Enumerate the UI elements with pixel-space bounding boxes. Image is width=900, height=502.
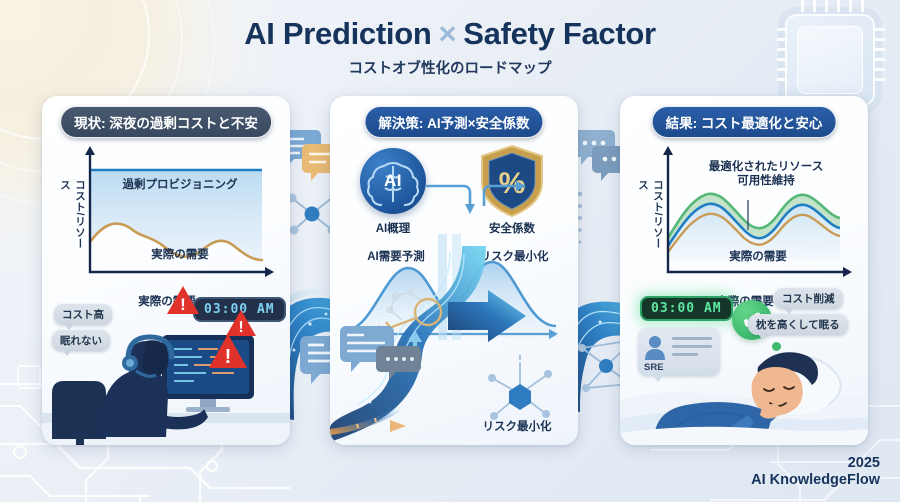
clock-night-ok: 03:00 AM (640, 296, 733, 321)
footer-year: 2025 (751, 455, 880, 471)
panel-solution: 解決策: AI予測×安全係数 AI AI概理 % 安全係数 (330, 96, 578, 445)
infographic-canvas: ✦ ✦ ✦ (0, 0, 900, 502)
chart-3-optimized-line2: 可用性維持 (737, 175, 795, 187)
page-subtitle: コストオブ性化のロードマップ (0, 57, 900, 78)
footer-brand: AI KnowledgeFlow (751, 472, 880, 488)
sleeping-engineer-illustration (620, 323, 868, 445)
title-part-1: AI Prediction (244, 16, 431, 51)
svg-text:!: ! (225, 346, 232, 368)
footer: 2025 AI KnowledgeFlow (751, 455, 880, 488)
warning-icon-1: ! (166, 284, 200, 316)
chart-3-optimized-label: 最適化されたリソース 可用性維持 (678, 160, 854, 189)
chart-1-overprovision-label: 過剰プロビジョニング (92, 176, 268, 192)
risk-network-icon (478, 354, 564, 428)
svg-text:!: ! (180, 295, 186, 314)
header: AI Prediction×Safety Factor コストオブ性化のロードマ… (0, 16, 900, 78)
ai-brain-badge: AI (360, 148, 426, 214)
warning-icon-3: ! (208, 332, 248, 370)
chat-bubbles-icon-panel2 (338, 322, 424, 384)
chart-result: コスト/リソース (634, 142, 856, 292)
title-multiply-icon: × (431, 16, 463, 51)
panel-current-state: 現状: 深夜の過剰コストと不安 コスト/リソース (42, 96, 290, 445)
panel-2-header: 解決策: AI予測×安全係数 (364, 106, 543, 138)
icon-link-arrows (422, 158, 530, 216)
chart-3-optimized-line1: 最適化されたリソース (709, 161, 823, 173)
panel-1-header: 現状: 深夜の過剰コストと不安 (60, 106, 272, 138)
chart-current-state: コスト/リソース 過剰プロビジョニング (56, 142, 278, 292)
chart-1-demand-label: 実際の需要 (92, 246, 268, 262)
title-part-2: Safety Factor (463, 16, 656, 51)
ai-brain-icon: AI (360, 148, 426, 214)
chart-3-demand-label: 実際の需要 (670, 248, 846, 264)
risk-minimize-label-bottom: リスク最小化 (460, 418, 574, 434)
panel-3-header: 結果: コスト最適化と安心 (652, 106, 837, 138)
bubble-cost-reduction: コスト削減 (774, 288, 843, 309)
panel-result: 結果: コスト最適化と安心 コスト/リソース (620, 96, 868, 445)
page-title: AI Prediction×Safety Factor (0, 16, 900, 52)
